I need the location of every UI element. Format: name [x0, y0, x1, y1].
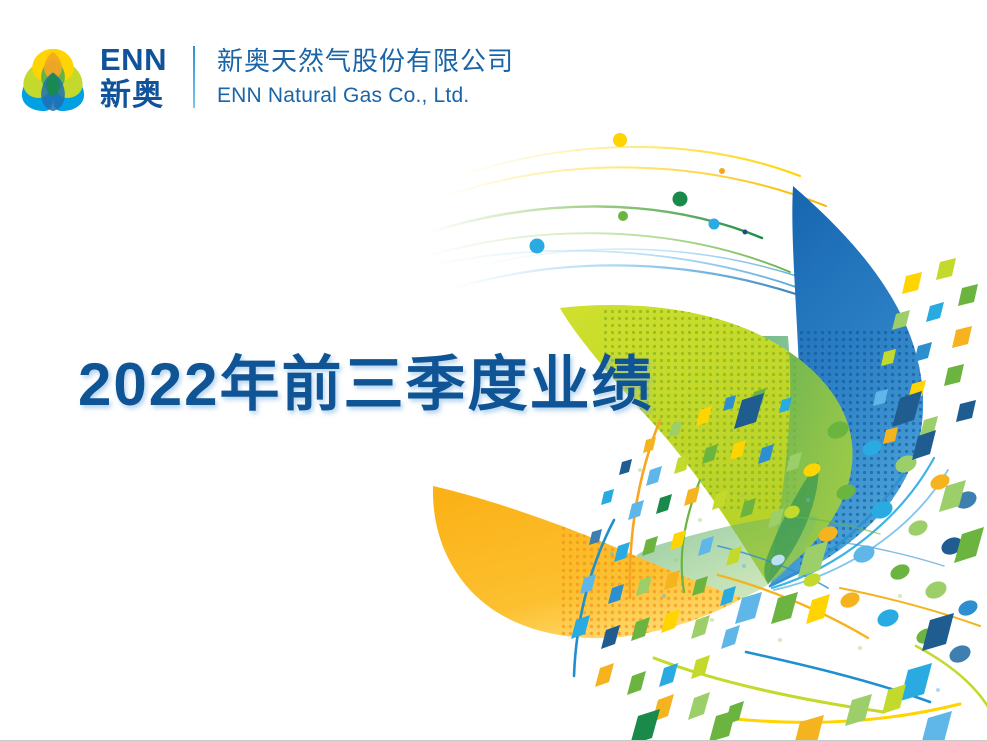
arc-end-dots [530, 133, 748, 254]
company-name-block: 新奥天然气股份有限公司 ENN Natural Gas Co., Ltd. [217, 45, 514, 110]
swoosh-arcs [420, 147, 840, 306]
presentation-slide: ENN 新奥 新奥天然气股份有限公司 ENN Natural Gas Co., … [0, 0, 987, 741]
confetti-particle-field [571, 258, 984, 741]
company-name-cn: 新奥天然气股份有限公司 [217, 45, 514, 78]
enn-wordmark: ENN 新奥 [100, 44, 167, 110]
company-name-en: ENN Natural Gas Co., Ltd. [217, 82, 514, 109]
brand-header: ENN 新奥 新奥天然气股份有限公司 ENN Natural Gas Co., … [16, 40, 514, 114]
lower-swirl-arcs [574, 420, 987, 722]
wordmark-cn: 新奥 [100, 79, 167, 110]
page-title: 2022年前三季度业绩 [78, 352, 653, 418]
enn-flower-logo-icon [16, 40, 90, 114]
header-divider [193, 46, 195, 108]
wordmark-en: ENN [100, 44, 167, 75]
